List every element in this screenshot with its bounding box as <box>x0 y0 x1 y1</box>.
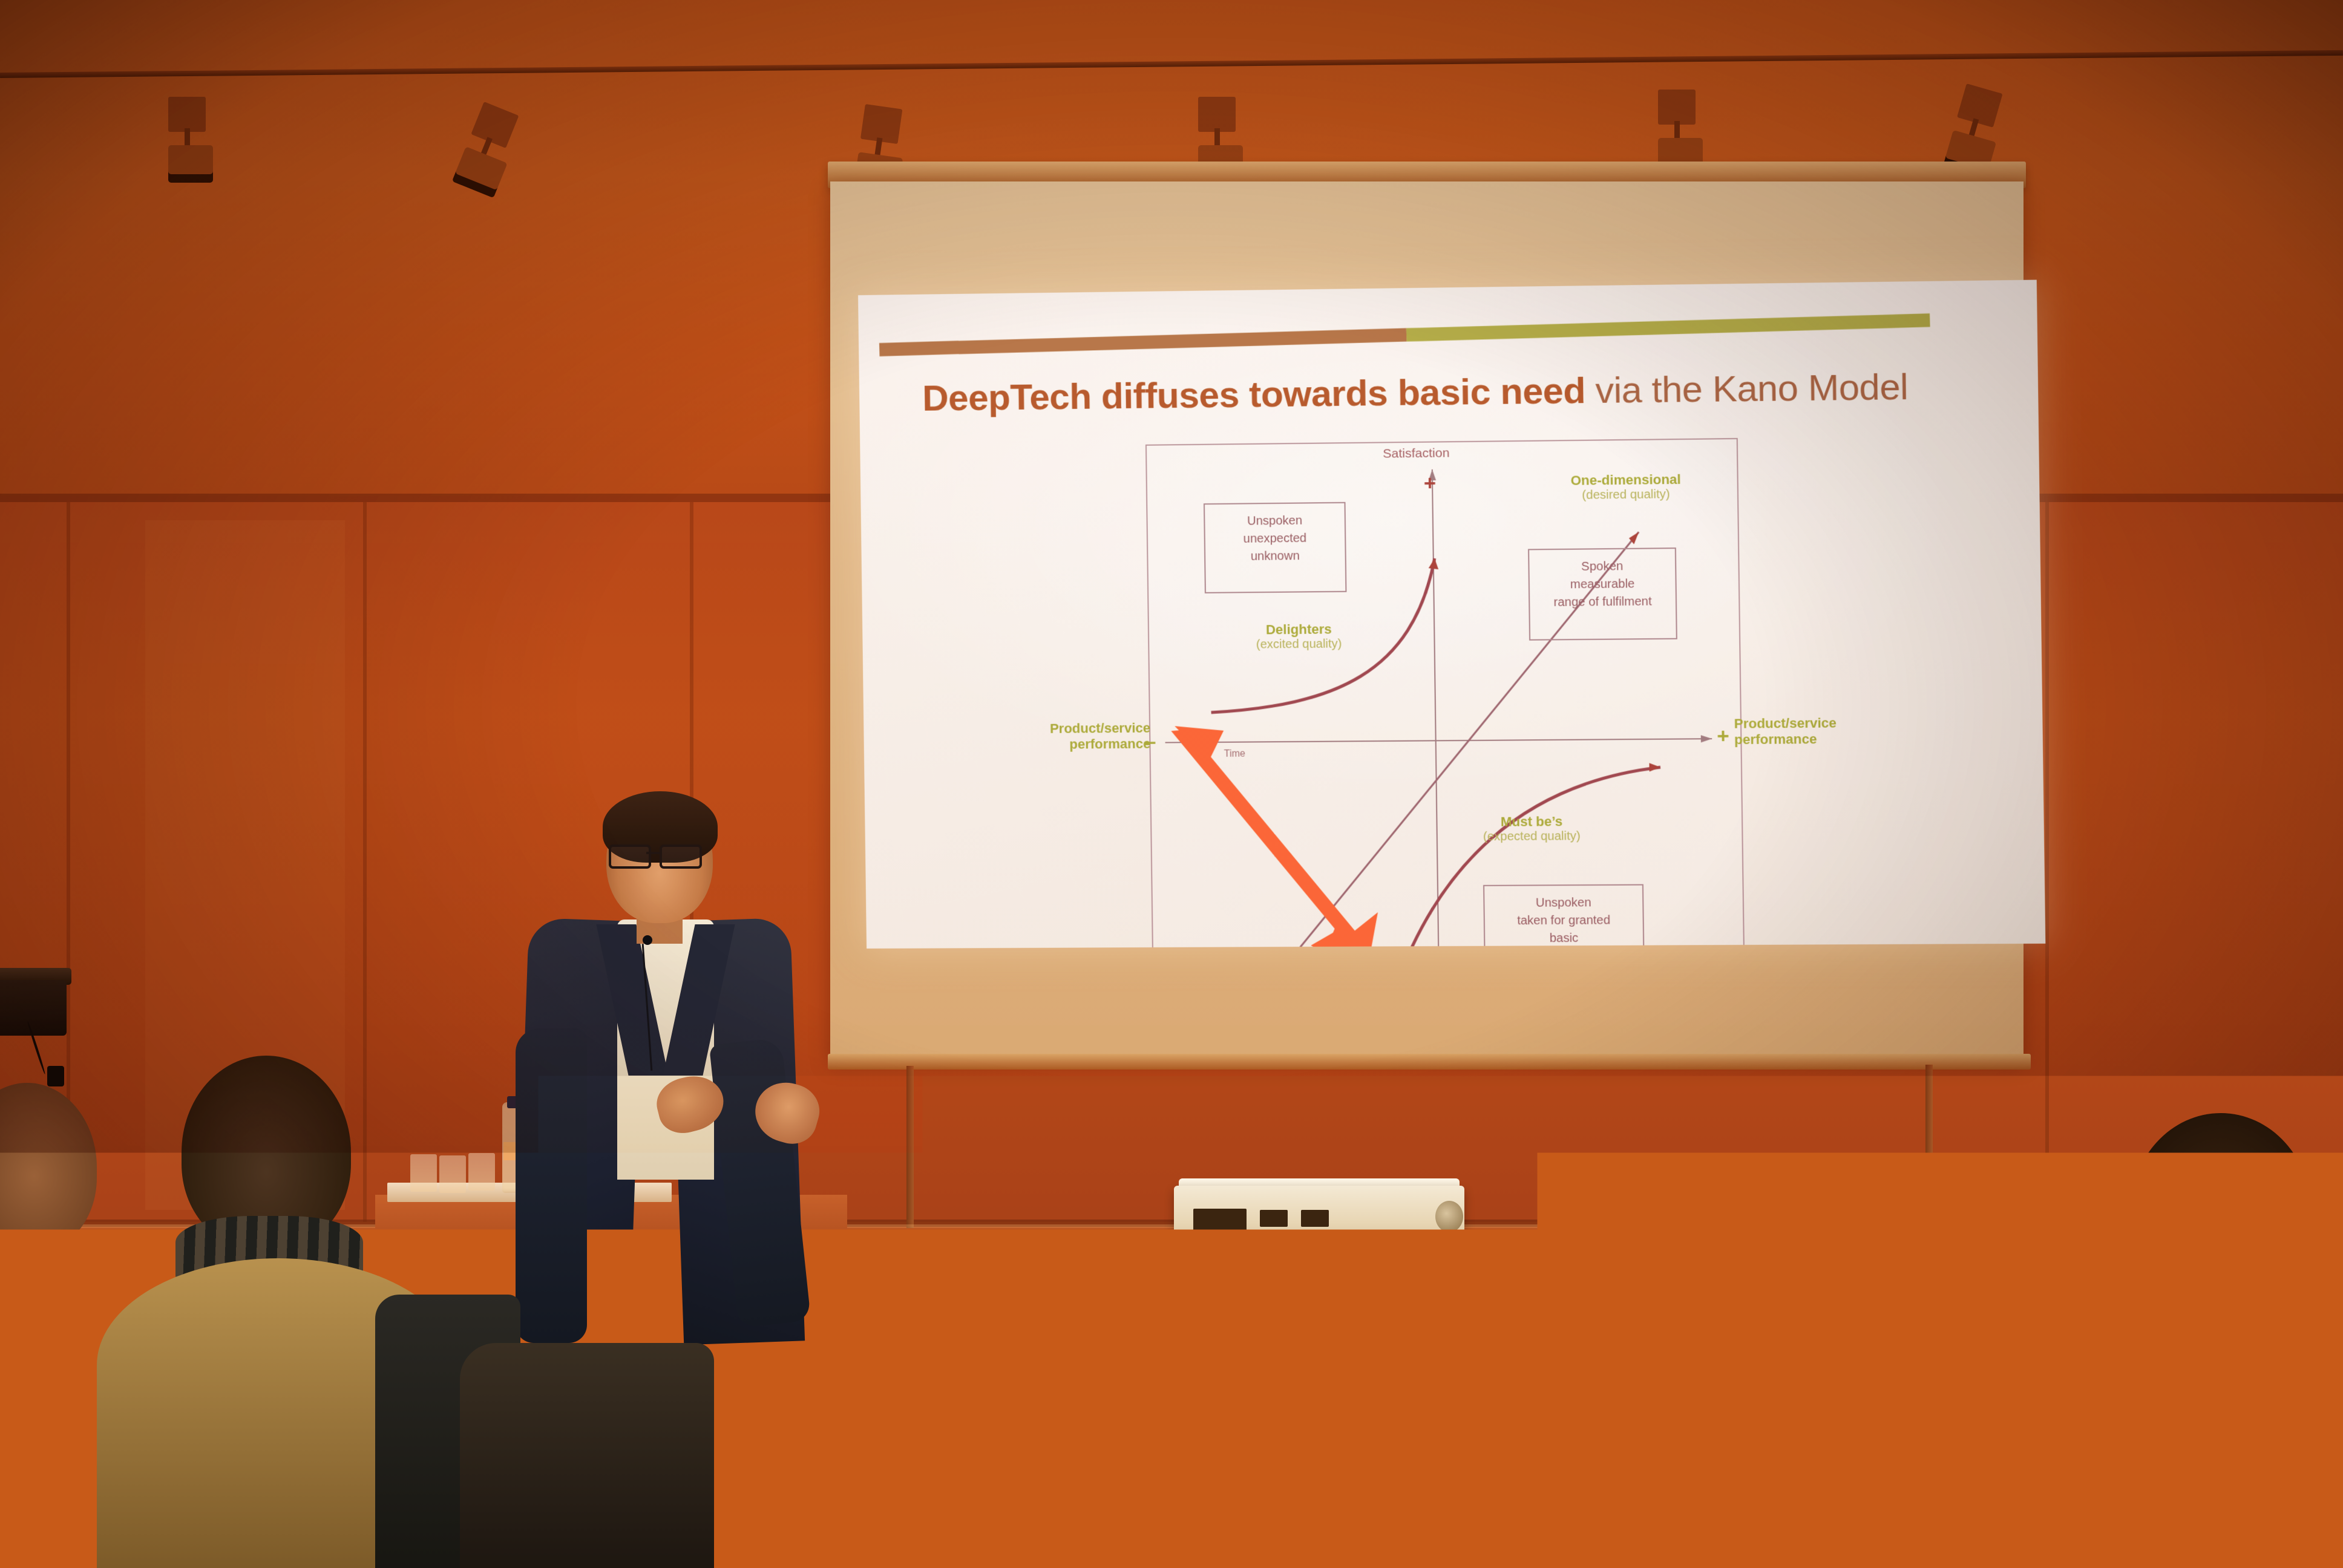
wall-joint-4 <box>2045 502 2049 1222</box>
drinking-glass-2 <box>439 1155 466 1193</box>
audience-collar-3 <box>2197 1331 2305 1397</box>
projection-screen-bottom-bar <box>828 1054 2031 1070</box>
boom-microphone-icon <box>47 1066 64 1086</box>
projector-remote <box>1295 1258 1353 1278</box>
projected-slide: DeepTech diffuses towards basic need via… <box>858 279 2045 949</box>
kano-label-satisfaction: Satisfaction <box>1383 446 1449 461</box>
kano-callout-one-dimensional: Spokenmeasurablerange of fulfilment <box>1528 547 1677 641</box>
slide-accent-bar <box>879 313 1930 356</box>
kano-origin-note: Time <box>1224 749 1246 760</box>
screen-support-left <box>906 1066 914 1247</box>
wall-joint-2 <box>363 502 367 1222</box>
drinking-glass-3 <box>468 1153 495 1191</box>
kano-axis-label-right: Product/serviceperformance <box>1734 714 1909 748</box>
drinking-glass-1 <box>410 1154 437 1192</box>
eyeglasses-icon <box>609 844 708 865</box>
kano-sign-top: + <box>1424 472 1437 496</box>
presenter-arm-left <box>516 1028 587 1343</box>
slide-title: DeepTech diffuses towards basic need via… <box>922 367 1992 417</box>
kano-x-axis <box>1165 738 1712 743</box>
kano-callout-must-bes: Unspokentaken for grantedbasicspoken if … <box>1483 884 1645 949</box>
kano-diagram: Satisfaction Dissatisfaction + – – + Tim… <box>1145 438 1746 949</box>
kano-callout-delighters: Unspokenunexpectedunknown <box>1204 502 1346 593</box>
screen-support-right <box>1925 1065 1933 1246</box>
presentation-photo: DeepTech diffuses towards basic need via… <box>0 0 2343 1568</box>
audience-member-far-right <box>1985 1410 2343 1568</box>
projector-port-1 <box>1193 1209 1247 1236</box>
kano-series-label-delighters: Delighters(excited quality) <box>1222 621 1376 652</box>
kano-series-label-one-dimensional: One-dimensional(desired quality) <box>1533 471 1719 503</box>
diffusion-arrow-icon <box>1171 725 1381 949</box>
projector-port-3 <box>1301 1210 1329 1227</box>
audience-coat-on-chair <box>460 1343 714 1568</box>
slide-title-bold: DeepTech diffuses towards basic need <box>922 370 1586 419</box>
stand-crossbar <box>1311 1282 1319 1422</box>
audience-head-3 <box>2130 1113 2312 1313</box>
accent-bar-left <box>879 328 1406 357</box>
accent-bar-right <box>1406 313 1930 342</box>
kano-series-label-must-bes: Must be’s(expected quality) <box>1446 814 1619 844</box>
kano-y-axis <box>1432 469 1440 949</box>
projector-lens <box>1435 1201 1463 1232</box>
kano-sign-right: + <box>1717 725 1729 749</box>
camera-body <box>0 980 67 1036</box>
lapel-microphone-icon <box>643 935 652 945</box>
slide-title-light: via the Kano Model <box>1585 366 1909 411</box>
kano-axis-label-left: Product/serviceperformance <box>992 720 1151 753</box>
projector-port-2 <box>1260 1210 1288 1227</box>
